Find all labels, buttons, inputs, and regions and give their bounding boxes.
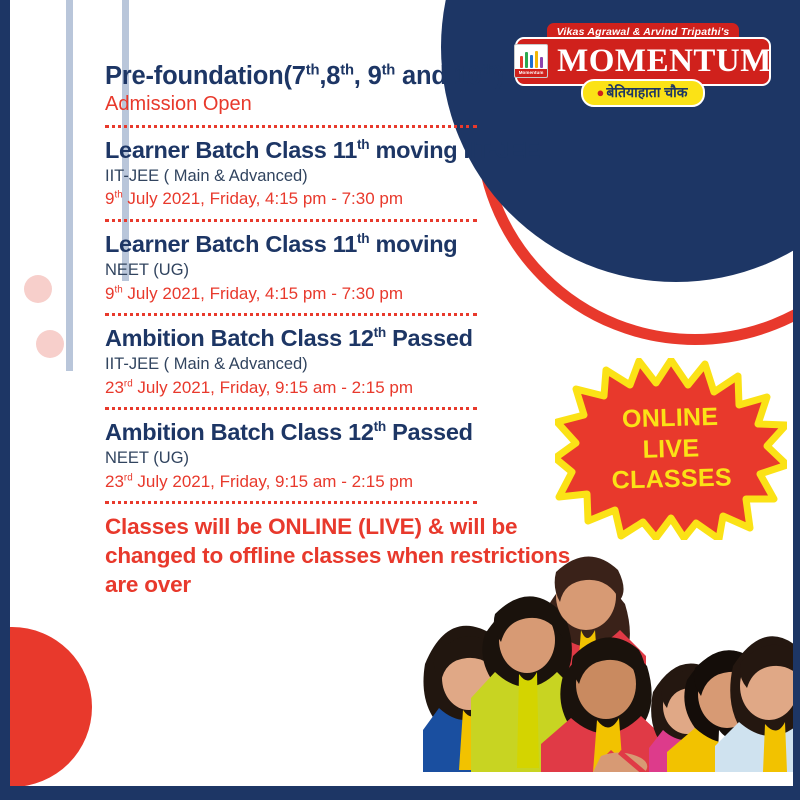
batch-schedule: 9th July 2021, Friday, 4:15 pm - 7:30 pm	[105, 283, 575, 304]
batch-title: Learner Batch Class 11th moving	[105, 231, 575, 258]
admission-status: Admission Open	[105, 92, 575, 116]
location-pin-icon: ●	[596, 85, 604, 100]
batch-entry-4: Ambition Batch Class 12th Passed NEET (U…	[105, 419, 575, 492]
separator	[105, 219, 477, 222]
batch-schedule: 9th July 2021, Friday, 4:15 pm - 7:30 pm	[105, 188, 575, 209]
momentum-emblem-icon: Momentum	[514, 44, 548, 78]
batch-exam: IIT-JEE ( Main & Advanced)	[105, 166, 575, 187]
vertical-line-decoration-1	[66, 0, 73, 371]
batch-title: Ambition Batch Class 12th Passed	[105, 325, 575, 352]
batch-title: Ambition Batch Class 12th Passed	[105, 419, 575, 446]
batch-entry-3: Ambition Batch Class 12th Passed IIT-JEE…	[105, 325, 575, 398]
badge-text: ONLINE LIVE CLASSES	[553, 355, 790, 543]
batch-entry-2: Learner Batch Class 11th moving NEET (UG…	[105, 231, 575, 304]
badge-line-1: ONLINE	[622, 402, 719, 435]
separator	[105, 407, 477, 410]
batch-exam: NEET (UG)	[105, 448, 575, 469]
logo-brand-name: MOMENTUM	[557, 45, 772, 78]
batch-exam: IIT-JEE ( Main & Advanced)	[105, 354, 575, 375]
pink-dot-decoration-1	[36, 330, 64, 358]
promotional-poster: Vikas Agrawal & Arvind Tripathi's Moment…	[0, 0, 800, 800]
batch-title: Learner Batch Class 11th moving IIT-JEE	[105, 137, 575, 164]
logo-location-wrapper: ●बेतियाहाता चौक	[515, 79, 771, 107]
content-column: Pre-foundation(7th,8th, 9th and 10th) Ad…	[105, 62, 575, 599]
red-circle-decoration	[0, 627, 92, 787]
pink-dot-decoration-2	[24, 275, 52, 303]
closing-note: Classes will be ONLINE (LIVE) & will be …	[105, 513, 575, 599]
separator	[105, 313, 477, 316]
logo-location-badge: ●बेतियाहाता चौक	[581, 79, 704, 107]
batch-entry-1: Learner Batch Class 11th moving IIT-JEE …	[105, 137, 575, 210]
page-title: Pre-foundation(7th,8th, 9th and 10th)	[105, 62, 575, 91]
separator	[105, 125, 477, 128]
momentum-logo: Vikas Agrawal & Arvind Tripathi's Moment…	[515, 22, 771, 107]
emblem-caption: Momentum	[515, 69, 547, 77]
badge-line-3: CLASSES	[611, 463, 732, 497]
online-live-classes-badge: ONLINE LIVE CLASSES	[555, 358, 787, 540]
logo-location-text: बेतियाहाता चौक	[606, 84, 687, 100]
batch-schedule: 23rd July 2021, Friday, 9:15 am - 2:15 p…	[105, 377, 575, 398]
batch-schedule: 23rd July 2021, Friday, 9:15 am - 2:15 p…	[105, 471, 575, 492]
separator	[105, 501, 477, 504]
batch-exam: NEET (UG)	[105, 260, 575, 281]
badge-line-2: LIVE	[642, 433, 700, 465]
